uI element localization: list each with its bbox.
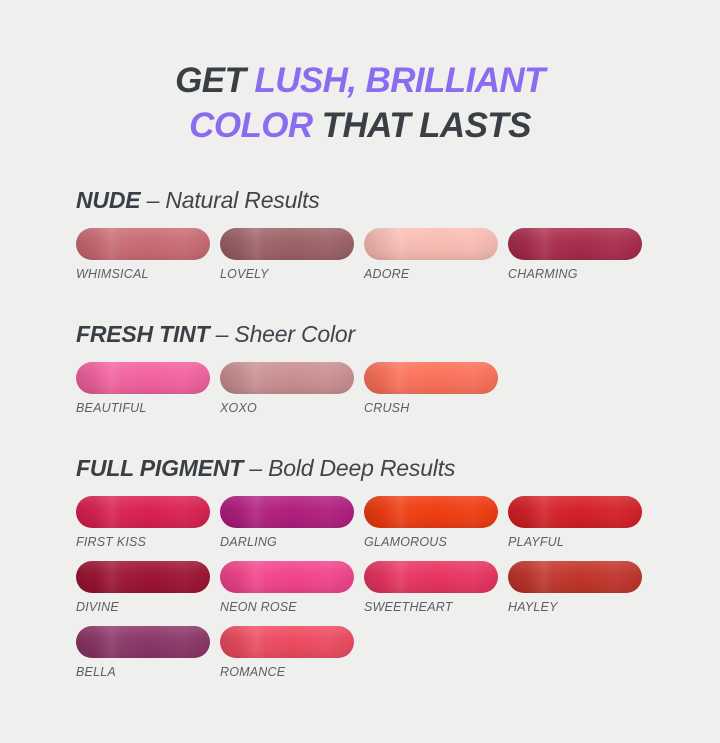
shade-swatch-label: CRUSH xyxy=(364,401,498,415)
shade-category: FRESH TINT – Sheer ColorBEAUTIFULXOXOCRU… xyxy=(76,321,676,427)
shade-swatch-item[interactable]: PLAYFUL xyxy=(508,496,642,549)
shade-swatch-item[interactable]: DARLING xyxy=(220,496,354,549)
shade-swatch-label: CHARMING xyxy=(508,267,642,281)
shade-swatch-item[interactable]: FIRST KISS xyxy=(76,496,210,549)
shade-swatch-label: BELLA xyxy=(76,665,210,679)
shade-category: FULL PIGMENT – Bold Deep ResultsFIRST KI… xyxy=(76,455,676,691)
shade-swatch-placeholder xyxy=(364,626,498,679)
shade-swatch-label: FIRST KISS xyxy=(76,535,210,549)
shade-swatch-color[interactable] xyxy=(220,228,354,260)
shade-swatch-row: WHIMSICALLOVELYADORECHARMING xyxy=(76,228,676,281)
shade-swatch-item[interactable]: XOXO xyxy=(220,362,354,415)
page-title: GET LUSH, BRILLIANT COLOR THAT LASTS xyxy=(0,23,720,149)
shade-swatch-label: BEAUTIFUL xyxy=(76,401,210,415)
shade-swatch-color[interactable] xyxy=(76,228,210,260)
shade-category-heading: NUDE – Natural Results xyxy=(76,187,676,214)
shade-swatch-item[interactable]: ROMANCE xyxy=(220,626,354,679)
shade-swatch-item[interactable]: DIVINE xyxy=(76,561,210,614)
shade-swatch-grid: WHIMSICALLOVELYADORECHARMING xyxy=(76,228,676,281)
shade-swatch-label: NEON ROSE xyxy=(220,600,354,614)
shade-swatch-label: PLAYFUL xyxy=(508,535,642,549)
shade-swatch-color[interactable] xyxy=(508,496,642,528)
shade-swatch-label: DARLING xyxy=(220,535,354,549)
page-title-segment-color: COLOR xyxy=(189,106,312,145)
shade-swatch-row: DIVINENEON ROSESWEETHEARTHAYLEY xyxy=(76,561,676,614)
shade-category: NUDE – Natural ResultsWHIMSICALLOVELYADO… xyxy=(76,187,676,293)
shade-category-subtitle: – Natural Results xyxy=(140,187,319,213)
page-title-line-1: GET LUSH, BRILLIANT xyxy=(0,59,720,104)
shade-swatch-label: WHIMSICAL xyxy=(76,267,210,281)
shade-swatch-label: XOXO xyxy=(220,401,354,415)
shade-swatch-color[interactable] xyxy=(220,626,354,658)
shade-swatch-item[interactable]: BEAUTIFUL xyxy=(76,362,210,415)
shade-swatch-color[interactable] xyxy=(220,561,354,593)
shade-swatch-label: HAYLEY xyxy=(508,600,642,614)
shade-category-subtitle: – Sheer Color xyxy=(209,321,355,347)
shade-swatch-item[interactable]: ADORE xyxy=(364,228,498,281)
shade-swatch-item[interactable]: NEON ROSE xyxy=(220,561,354,614)
shade-swatch-color[interactable] xyxy=(76,561,210,593)
shade-swatch-row: BELLAROMANCE xyxy=(76,626,676,679)
shade-swatch-color[interactable] xyxy=(220,362,354,394)
shade-swatch-color[interactable] xyxy=(508,561,642,593)
shade-category-subtitle: – Bold Deep Results xyxy=(243,455,455,481)
page-title-segment-that-lasts: THAT LASTS xyxy=(313,106,531,145)
shade-swatch-label: DIVINE xyxy=(76,600,210,614)
page-title-segment-lush-brilliant: LUSH, BRILLIANT xyxy=(254,61,544,100)
shade-category-heading: FULL PIGMENT – Bold Deep Results xyxy=(76,455,676,482)
shade-swatch-grid: FIRST KISSDARLINGGLAMOROUSPLAYFULDIVINEN… xyxy=(76,496,676,679)
shade-swatch-color[interactable] xyxy=(76,626,210,658)
shade-swatch-label: ROMANCE xyxy=(220,665,354,679)
shade-swatch-row: FIRST KISSDARLINGGLAMOROUSPLAYFUL xyxy=(76,496,676,549)
shade-swatch-label: ADORE xyxy=(364,267,498,281)
shade-swatch-color[interactable] xyxy=(364,561,498,593)
shade-category-name: FULL PIGMENT xyxy=(76,455,243,481)
shade-swatch-color[interactable] xyxy=(364,228,498,260)
shade-swatch-item[interactable]: SWEETHEART xyxy=(364,561,498,614)
shade-swatch-label: SWEETHEART xyxy=(364,600,498,614)
shade-swatch-label: LOVELY xyxy=(220,267,354,281)
shade-swatch-color[interactable] xyxy=(364,362,498,394)
shade-swatch-item[interactable]: WHIMSICAL xyxy=(76,228,210,281)
shade-swatch-color[interactable] xyxy=(76,362,210,394)
shade-category-name: FRESH TINT xyxy=(76,321,209,347)
shade-swatch-grid: BEAUTIFULXOXOCRUSH xyxy=(76,362,676,415)
shade-swatch-label: GLAMOROUS xyxy=(364,535,498,549)
shade-swatch-item[interactable]: BELLA xyxy=(76,626,210,679)
shade-swatch-color[interactable] xyxy=(508,228,642,260)
shade-category-heading: FRESH TINT – Sheer Color xyxy=(76,321,676,348)
shade-swatch-item[interactable]: LOVELY xyxy=(220,228,354,281)
lipstick-shade-chart-page: GET LUSH, BRILLIANT COLOR THAT LASTS NUD… xyxy=(0,23,720,743)
shade-swatch-row: BEAUTIFULXOXOCRUSH xyxy=(76,362,676,415)
shade-swatch-item[interactable]: GLAMOROUS xyxy=(364,496,498,549)
page-title-line-2: COLOR THAT LASTS xyxy=(0,104,720,149)
shade-swatch-placeholder xyxy=(508,626,642,679)
shade-swatch-item[interactable]: HAYLEY xyxy=(508,561,642,614)
shade-swatch-placeholder xyxy=(508,362,642,415)
shade-swatch-color[interactable] xyxy=(220,496,354,528)
shade-swatch-item[interactable]: CRUSH xyxy=(364,362,498,415)
shade-swatch-color[interactable] xyxy=(76,496,210,528)
shade-category-name: NUDE xyxy=(76,187,140,213)
shade-swatch-color[interactable] xyxy=(364,496,498,528)
shade-swatch-item[interactable]: CHARMING xyxy=(508,228,642,281)
page-title-segment-get: GET xyxy=(175,61,254,100)
